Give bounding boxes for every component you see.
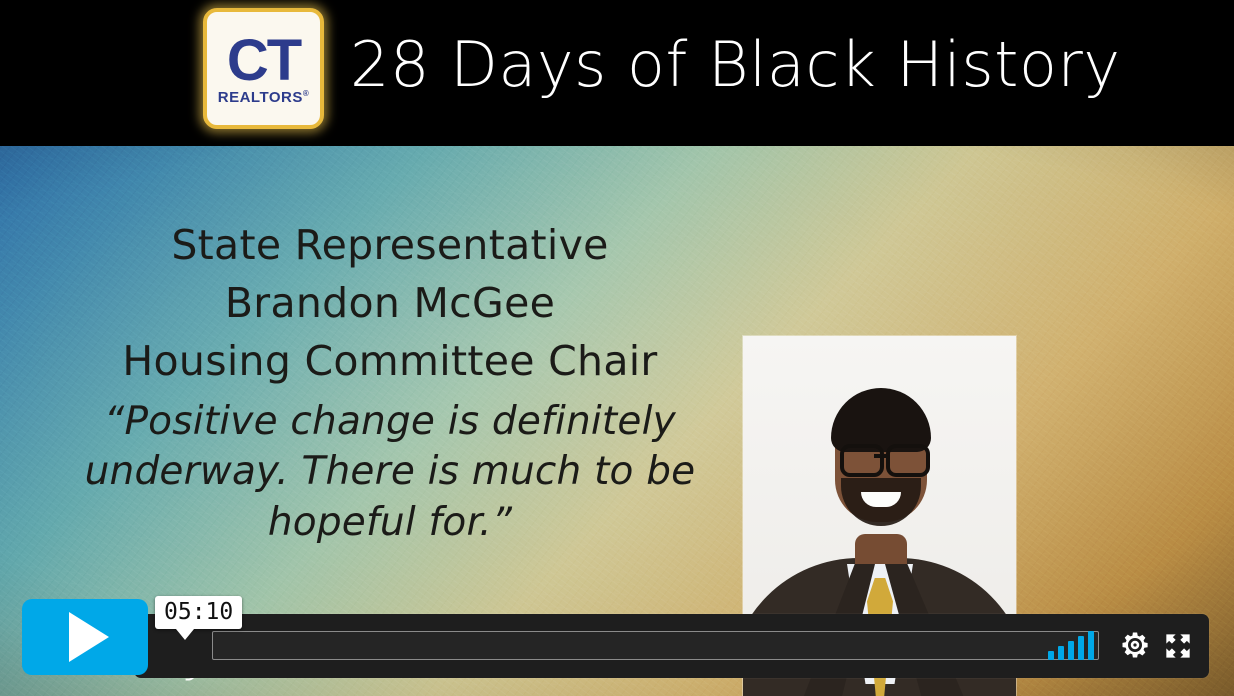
caption-line-3: Housing Committee Chair [60,332,720,390]
player-control-bar[interactable] [134,614,1209,678]
ct-realtors-logo: CT REALTORS® [203,8,324,129]
video-player[interactable]: CT REALTORS® 28 Days of Black History St… [0,0,1234,696]
fullscreen-icon[interactable] [1164,632,1192,660]
header-banner: CT REALTORS® 28 Days of Black History [0,0,1234,146]
caption-line-1: State Representative [60,216,720,274]
volume-bar-5 [1088,631,1094,660]
play-button[interactable] [22,599,148,675]
portrait-glasses-bridge [874,454,888,458]
page-title: 28 Days of Black History [350,28,1121,101]
logo-subtitle-text: REALTORS® [218,89,310,106]
volume-bar-1 [1048,651,1054,660]
volume-icon[interactable] [1048,632,1100,660]
gear-icon[interactable] [1120,630,1150,660]
logo-subtitle-word: REALTORS [218,89,303,106]
slide-quote: “Positive change is definitely underway.… [60,397,720,549]
volume-bar-4 [1078,636,1084,660]
caption-line-2: Brandon McGee [60,274,720,332]
time-tooltip: 05:10 [155,596,242,629]
volume-bar-3 [1068,641,1074,660]
portrait-glasses-left [840,444,884,477]
logo-brand-text: CT [227,35,300,87]
volume-bar-2 [1058,646,1064,660]
slide-caption: State Representative Brandon McGee Housi… [60,216,720,549]
play-icon [69,612,109,662]
registered-mark-icon: ® [303,89,309,98]
portrait-glasses-right [886,444,930,477]
progress-scrubber[interactable] [212,631,1099,660]
